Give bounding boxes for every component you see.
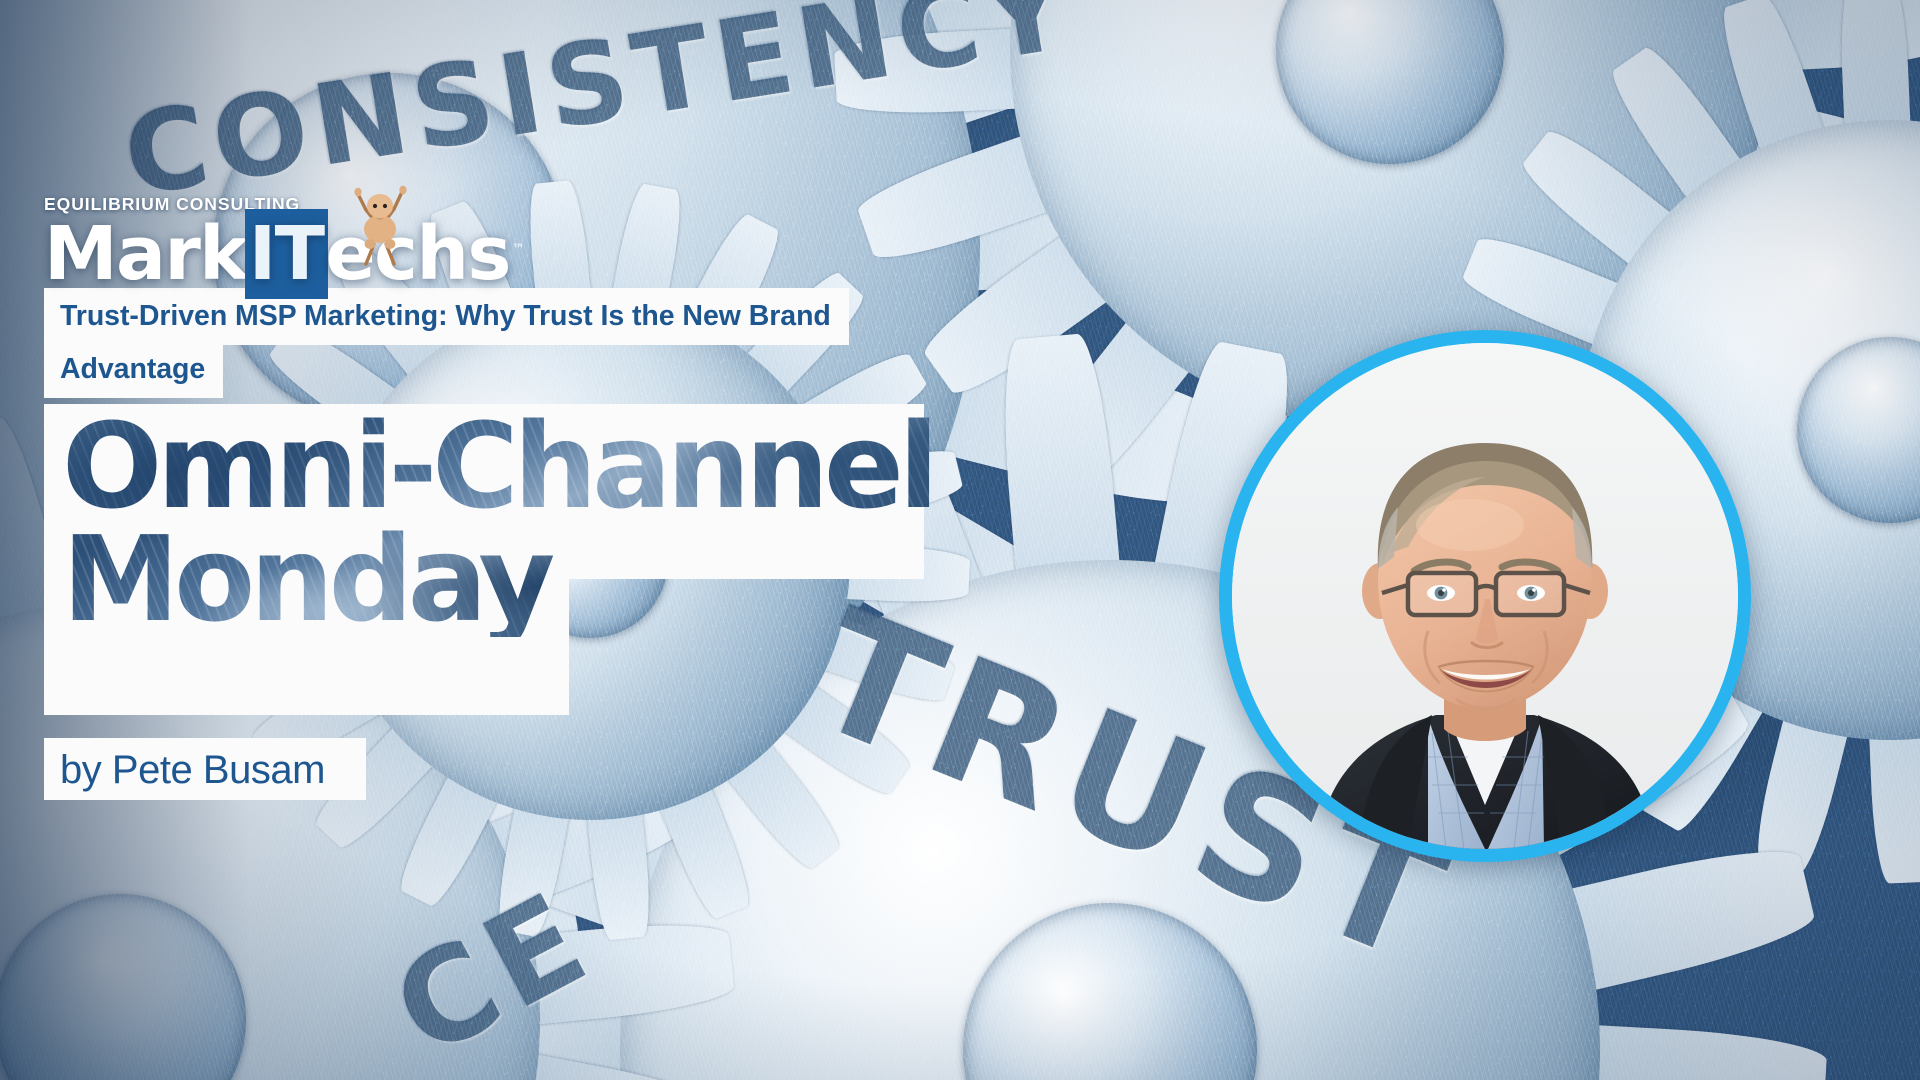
logo-word-it: IT	[247, 211, 326, 297]
subtitle-line-2: Advantage	[44, 345, 223, 399]
brand-logo[interactable]: EQUILIBRIUM CONSULTING MarkITechs™	[44, 196, 523, 288]
page-title: Omni-Channel Monday	[62, 410, 934, 637]
logo-wordmark: MarkITechs™	[44, 220, 523, 288]
avatar-image-clip	[1232, 343, 1738, 849]
wooden-mannequin-icon	[330, 182, 426, 268]
author-byline: by Pete Busam	[60, 744, 325, 796]
author-avatar	[1219, 330, 1751, 862]
logo-word-part1: Mark	[44, 211, 247, 297]
portrait-illustration	[1232, 343, 1738, 849]
promo-banner: CONSISTENCY TRUST CE EQUILIBRIUM CONSULT…	[0, 0, 1920, 1080]
article-subtitle: Trust-Driven MSP Marketing: Why Trust Is…	[44, 288, 1044, 398]
logo-trademark: ™	[512, 242, 523, 257]
